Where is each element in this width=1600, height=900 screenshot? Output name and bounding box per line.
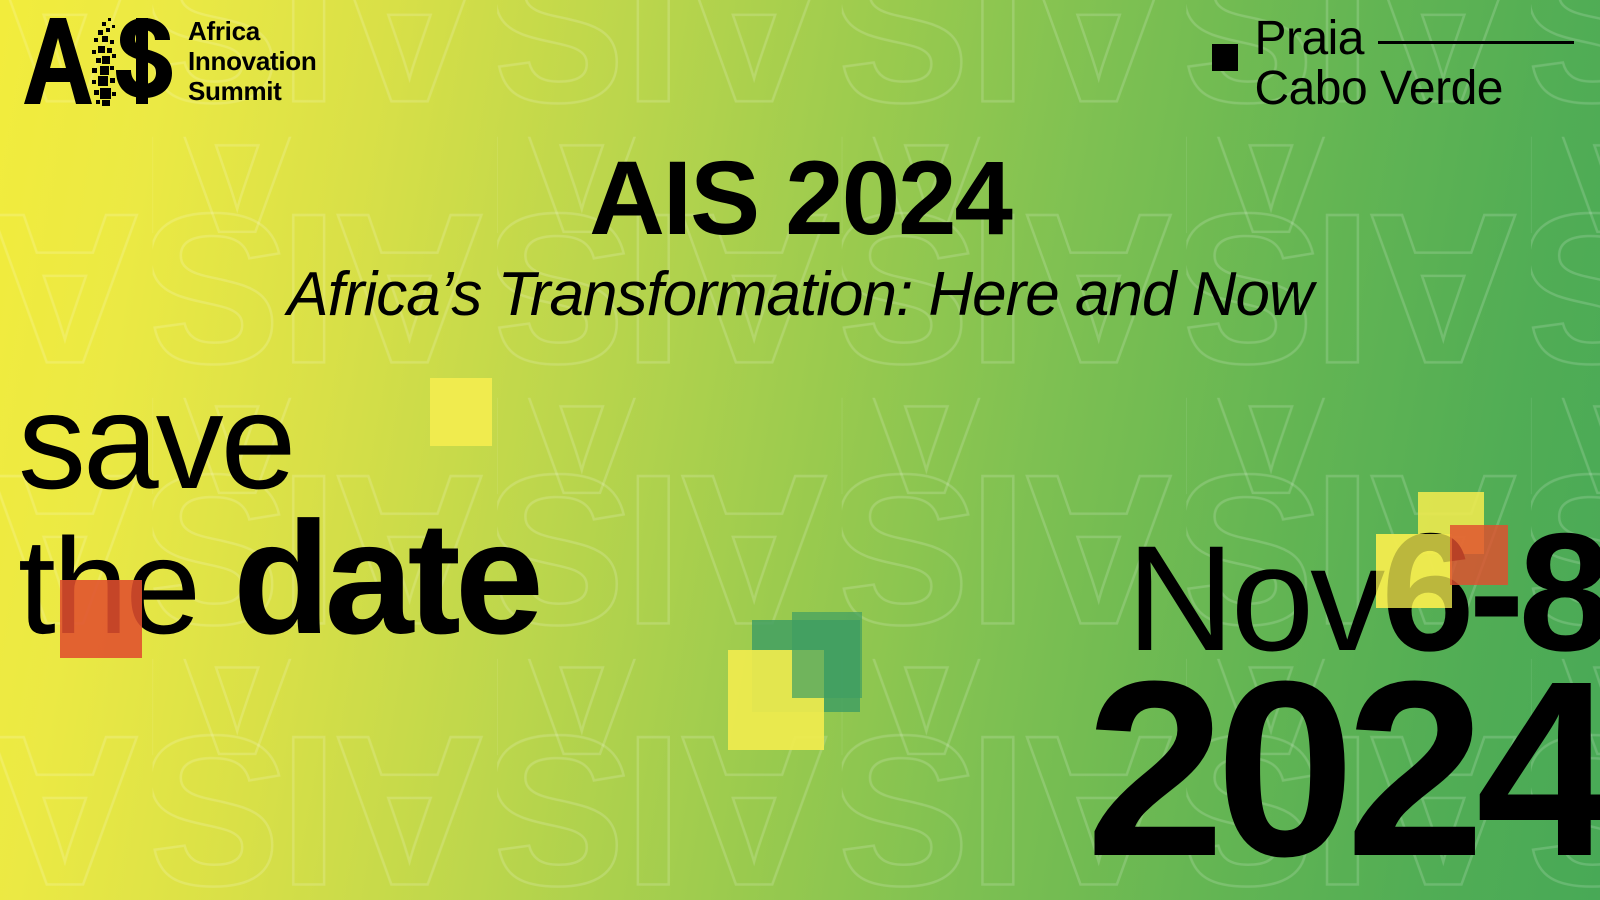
green-square-date-front xyxy=(792,612,862,698)
logo-wordmark: Africa Innovation Summit xyxy=(188,16,316,106)
location-country: Cabo Verde xyxy=(1254,64,1574,114)
save-the-date-date: date xyxy=(233,488,538,667)
location-city-row: Praia xyxy=(1254,14,1574,64)
location-block: Praia Cabo Verde xyxy=(1212,14,1574,114)
event-year: 2024 xyxy=(1086,666,1600,871)
square-bullet-icon xyxy=(1212,44,1238,71)
save-the-date-line1: save xyxy=(18,378,538,504)
location-rule xyxy=(1378,41,1574,44)
logo-word-innovation: Innovation xyxy=(188,46,316,76)
ais-pixel-logo-icon xyxy=(22,16,172,106)
red-square-nov xyxy=(1450,525,1508,585)
location-city: Praia xyxy=(1254,14,1364,64)
ais-logo[interactable]: Africa Innovation Summit xyxy=(22,16,316,106)
event-date-block: Nov6-8 2024 xyxy=(1086,524,1600,871)
page-title: AIS 2024 xyxy=(0,146,1600,251)
red-square-the xyxy=(60,580,142,658)
save-the-date-poster: AIS AIS xyxy=(0,0,1600,900)
location-lines: Praia Cabo Verde xyxy=(1254,14,1574,114)
logo-word-africa: Africa xyxy=(188,16,316,46)
logo-word-summit: Summit xyxy=(188,76,316,106)
page-subtitle: Africa’s Transformation: Here and Now xyxy=(0,264,1600,326)
yellow-square-nov-front xyxy=(1376,534,1452,608)
